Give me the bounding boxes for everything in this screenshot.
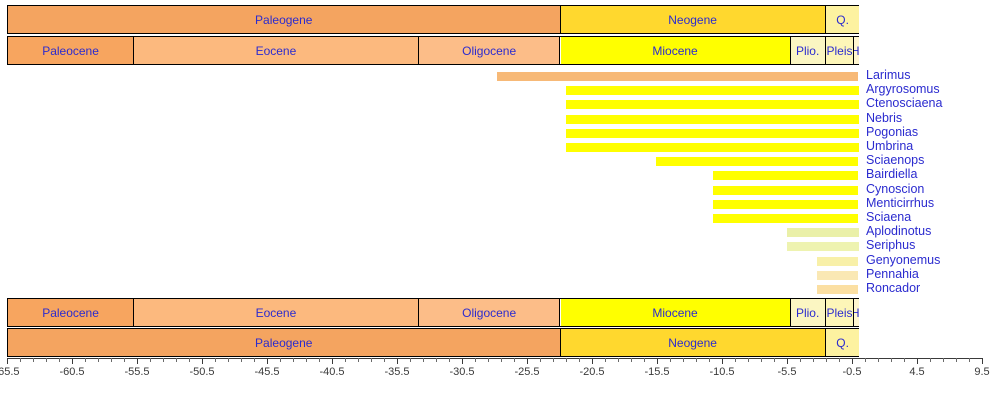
axis-minor-tick [189, 358, 190, 362]
axis-minor-tick [33, 358, 34, 362]
range-bar[interactable] [817, 271, 859, 280]
timescale-cell-label: Paleocene [42, 306, 99, 320]
timescale-cell-label: Neogene [668, 336, 717, 350]
axis-minor-tick [475, 358, 476, 362]
axis-minor-tick [319, 358, 320, 362]
axis-tick [527, 358, 528, 364]
axis-tick-label: -10.5 [709, 366, 734, 378]
taxon-label-column: LarimusArgyrosomusCtenosciaenaNebrisPogo… [866, 66, 1000, 295]
taxon-label: Seriphus [866, 239, 915, 252]
timescale-cell-label: Pleis [826, 306, 852, 320]
axis-minor-tick [956, 358, 957, 362]
axis-minor-tick [111, 358, 112, 362]
timescale-cell-q: Q. [826, 329, 860, 356]
axis-minor-tick [384, 358, 385, 362]
axis-minor-tick [553, 358, 554, 362]
axis-tick [202, 358, 203, 364]
plot-area [7, 66, 861, 295]
timescale-cell-label: Oligocene [462, 44, 516, 58]
axis-tick [787, 358, 788, 364]
timescale-cell-plio: Plio. [791, 37, 826, 64]
axis-minor-tick [605, 358, 606, 362]
range-bar[interactable] [566, 143, 859, 152]
axis-minor-tick [930, 358, 931, 362]
taxon-label: Larimus [866, 69, 910, 82]
timescale-cell-neogene: Neogene [561, 329, 826, 356]
axis-tick [72, 358, 73, 364]
range-bar[interactable] [566, 100, 859, 109]
timescale-cell-paleocene: Paleocene [8, 37, 134, 64]
timescale-cell-pleis: Pleis [826, 37, 855, 64]
timescale-cell-miocene: Miocene [561, 37, 791, 64]
axis-minor-tick [579, 358, 580, 362]
timescale-cell-label: Paleogene [255, 336, 312, 350]
axis-minor-tick [761, 358, 762, 362]
range-bar[interactable] [713, 214, 859, 223]
axis-minor-tick [85, 358, 86, 362]
axis-tick-label: -55.5 [124, 366, 149, 378]
axis-minor-tick [59, 358, 60, 362]
timescale-cell-label: Neogene [668, 13, 717, 27]
range-bar[interactable] [566, 115, 859, 124]
axis-minor-tick [371, 358, 372, 362]
timescale-period-band-top: PaleogeneNeogeneQ. [7, 5, 859, 34]
axis-minor-tick [644, 358, 645, 362]
axis-minor-tick [254, 358, 255, 362]
axis-minor-tick [228, 358, 229, 362]
axis-minor-tick [423, 358, 424, 362]
axis-tick-label: -50.5 [189, 366, 214, 378]
timescale-cell-pleis: Pleis [826, 299, 855, 326]
axis-minor-tick [98, 358, 99, 362]
axis-tick-label: 9.5 [974, 366, 989, 378]
range-bar[interactable] [713, 186, 859, 195]
taxon-label: Genyonemus [866, 254, 940, 267]
axis-minor-tick [46, 358, 47, 362]
timescale-epoch-band-bottom: PaleoceneEoceneOligoceneMiocenePlio.Plei… [7, 298, 859, 327]
timescale-cell-h: H. [854, 299, 859, 326]
timescale-cell-label: Paleocene [42, 44, 99, 58]
axis-minor-tick [501, 358, 502, 362]
axis-minor-tick [358, 358, 359, 362]
axis-tick-label: -45.5 [254, 366, 279, 378]
range-bar[interactable] [497, 72, 858, 81]
taxon-label: Pennahia [866, 268, 919, 281]
axis-minor-tick [540, 358, 541, 362]
axis-minor-tick [436, 358, 437, 362]
axis-minor-tick [813, 358, 814, 362]
timescale-cell-miocene: Miocene [561, 299, 791, 326]
axis-minor-tick [735, 358, 736, 362]
axis-minor-tick [891, 358, 892, 362]
range-bar[interactable] [566, 129, 859, 138]
timescale-cell-eocene: Eocene [134, 37, 419, 64]
axis-minor-tick [241, 358, 242, 362]
range-bar[interactable] [787, 242, 859, 251]
timescale-period-band-bottom: PaleogeneNeogeneQ. [7, 328, 859, 357]
timescale-cell-eocene: Eocene [134, 299, 419, 326]
axis-tick [592, 358, 593, 364]
axis-minor-tick [800, 358, 801, 362]
axis-minor-tick [774, 358, 775, 362]
axis-minor-tick [683, 358, 684, 362]
axis-minor-tick [566, 358, 567, 362]
timescale-cell-label: Plio. [796, 44, 819, 58]
range-bar[interactable] [566, 86, 859, 95]
axis-minor-tick [865, 358, 866, 362]
axis-minor-tick [176, 358, 177, 362]
timescale-cell-label: Eocene [256, 306, 297, 320]
axis-tick [332, 358, 333, 364]
axis-minor-tick [306, 358, 307, 362]
taxon-label: Sciaenops [866, 154, 924, 167]
taxon-label: Pogonias [866, 126, 918, 139]
axis-minor-tick [878, 358, 879, 362]
axis-minor-tick [150, 358, 151, 362]
axis-tick-label: -15.5 [644, 366, 669, 378]
taxon-label: Menticirrhus [866, 197, 934, 210]
axis-tick [137, 358, 138, 364]
axis-tick-label: -30.5 [449, 366, 474, 378]
taxon-label: Roncador [866, 282, 920, 295]
axis-tick [917, 358, 918, 364]
axis-tick-label: -5.5 [778, 366, 797, 378]
timescale-cell-paleogene: Paleogene [8, 329, 561, 356]
taxon-label: Aplodinotus [866, 225, 931, 238]
timescale-cell-label: Q. [836, 13, 849, 27]
axis-tick [7, 358, 8, 364]
axis-tick-label: -0.5 [843, 366, 862, 378]
axis-minor-tick [20, 358, 21, 362]
taxon-label: Cynoscion [866, 183, 924, 196]
axis-tick [267, 358, 268, 364]
taxon-label: Sciaena [866, 211, 911, 224]
timescale-cell-label: Miocene [652, 306, 697, 320]
axis-minor-tick [449, 358, 450, 362]
taxon-label: Umbrina [866, 140, 913, 153]
axis-minor-tick [696, 358, 697, 362]
axis-minor-tick [345, 358, 346, 362]
timescale-cell-h: H. [854, 37, 859, 64]
axis-tick [982, 358, 983, 364]
range-bar[interactable] [656, 157, 859, 166]
taxon-label: Argyrosomus [866, 83, 940, 96]
timescale-cell-label: Eocene [256, 44, 297, 58]
axis-minor-tick [124, 358, 125, 362]
axis-tick-label: -40.5 [319, 366, 344, 378]
timescale-cell-neogene: Neogene [561, 6, 826, 33]
axis-minor-tick [293, 358, 294, 362]
axis-tick [852, 358, 853, 364]
axis-tick [462, 358, 463, 364]
axis-minor-tick [618, 358, 619, 362]
timescale-cell-paleogene: Paleogene [8, 6, 561, 33]
axis-tick [397, 358, 398, 364]
timescale-cell-plio: Plio. [791, 299, 826, 326]
timescale-cell-paleocene: Paleocene [8, 299, 134, 326]
range-bar[interactable] [817, 257, 859, 266]
x-axis: -65.5-60.5-55.5-50.5-45.5-40.5-35.5-30.5… [0, 358, 1000, 405]
timescale-cell-label: Plio. [796, 306, 819, 320]
axis-line [7, 358, 982, 359]
axis-minor-tick [410, 358, 411, 362]
axis-minor-tick [826, 358, 827, 362]
axis-minor-tick [670, 358, 671, 362]
axis-minor-tick [488, 358, 489, 362]
axis-minor-tick [215, 358, 216, 362]
timescale-cell-oligocene: Oligocene [419, 37, 561, 64]
axis-minor-tick [163, 358, 164, 362]
axis-minor-tick [943, 358, 944, 362]
timescale-cell-label: H. [854, 306, 859, 320]
timescale-cell-oligocene: Oligocene [419, 299, 561, 326]
axis-minor-tick [631, 358, 632, 362]
taxon-label: Nebris [866, 112, 902, 125]
axis-tick-label: -60.5 [59, 366, 84, 378]
timescale-cell-label: Paleogene [255, 13, 312, 27]
timescale-cell-label: Miocene [652, 44, 697, 58]
range-bar[interactable] [817, 285, 859, 294]
axis-minor-tick [904, 358, 905, 362]
timescale-cell-label: Oligocene [462, 306, 516, 320]
range-chart: PaleogeneNeogeneQ. PaleoceneEoceneOligoc… [0, 0, 1000, 405]
axis-tick-label: 4.5 [909, 366, 924, 378]
timescale-cell-label: H. [854, 44, 859, 58]
timescale-cell-label: Q. [836, 336, 849, 350]
axis-minor-tick [839, 358, 840, 362]
axis-minor-tick [280, 358, 281, 362]
timescale-cell-label: Pleis [826, 44, 852, 58]
taxon-label: Bairdiella [866, 168, 917, 181]
axis-tick-label: -20.5 [579, 366, 604, 378]
axis-tick [722, 358, 723, 364]
axis-minor-tick [709, 358, 710, 362]
timescale-epoch-band-top: PaleoceneEoceneOligoceneMiocenePlio.Plei… [7, 36, 859, 65]
axis-tick [657, 358, 658, 364]
timescale-cell-q: Q. [826, 6, 860, 33]
axis-tick-label: -35.5 [384, 366, 409, 378]
axis-tick-label: -65.5 [0, 366, 20, 378]
axis-minor-tick [748, 358, 749, 362]
axis-minor-tick [514, 358, 515, 362]
axis-minor-tick [969, 358, 970, 362]
range-bar[interactable] [713, 171, 859, 180]
range-bar[interactable] [787, 228, 859, 237]
axis-tick-label: -25.5 [514, 366, 539, 378]
taxon-label: Ctenosciaena [866, 97, 942, 110]
range-bar[interactable] [713, 200, 859, 209]
